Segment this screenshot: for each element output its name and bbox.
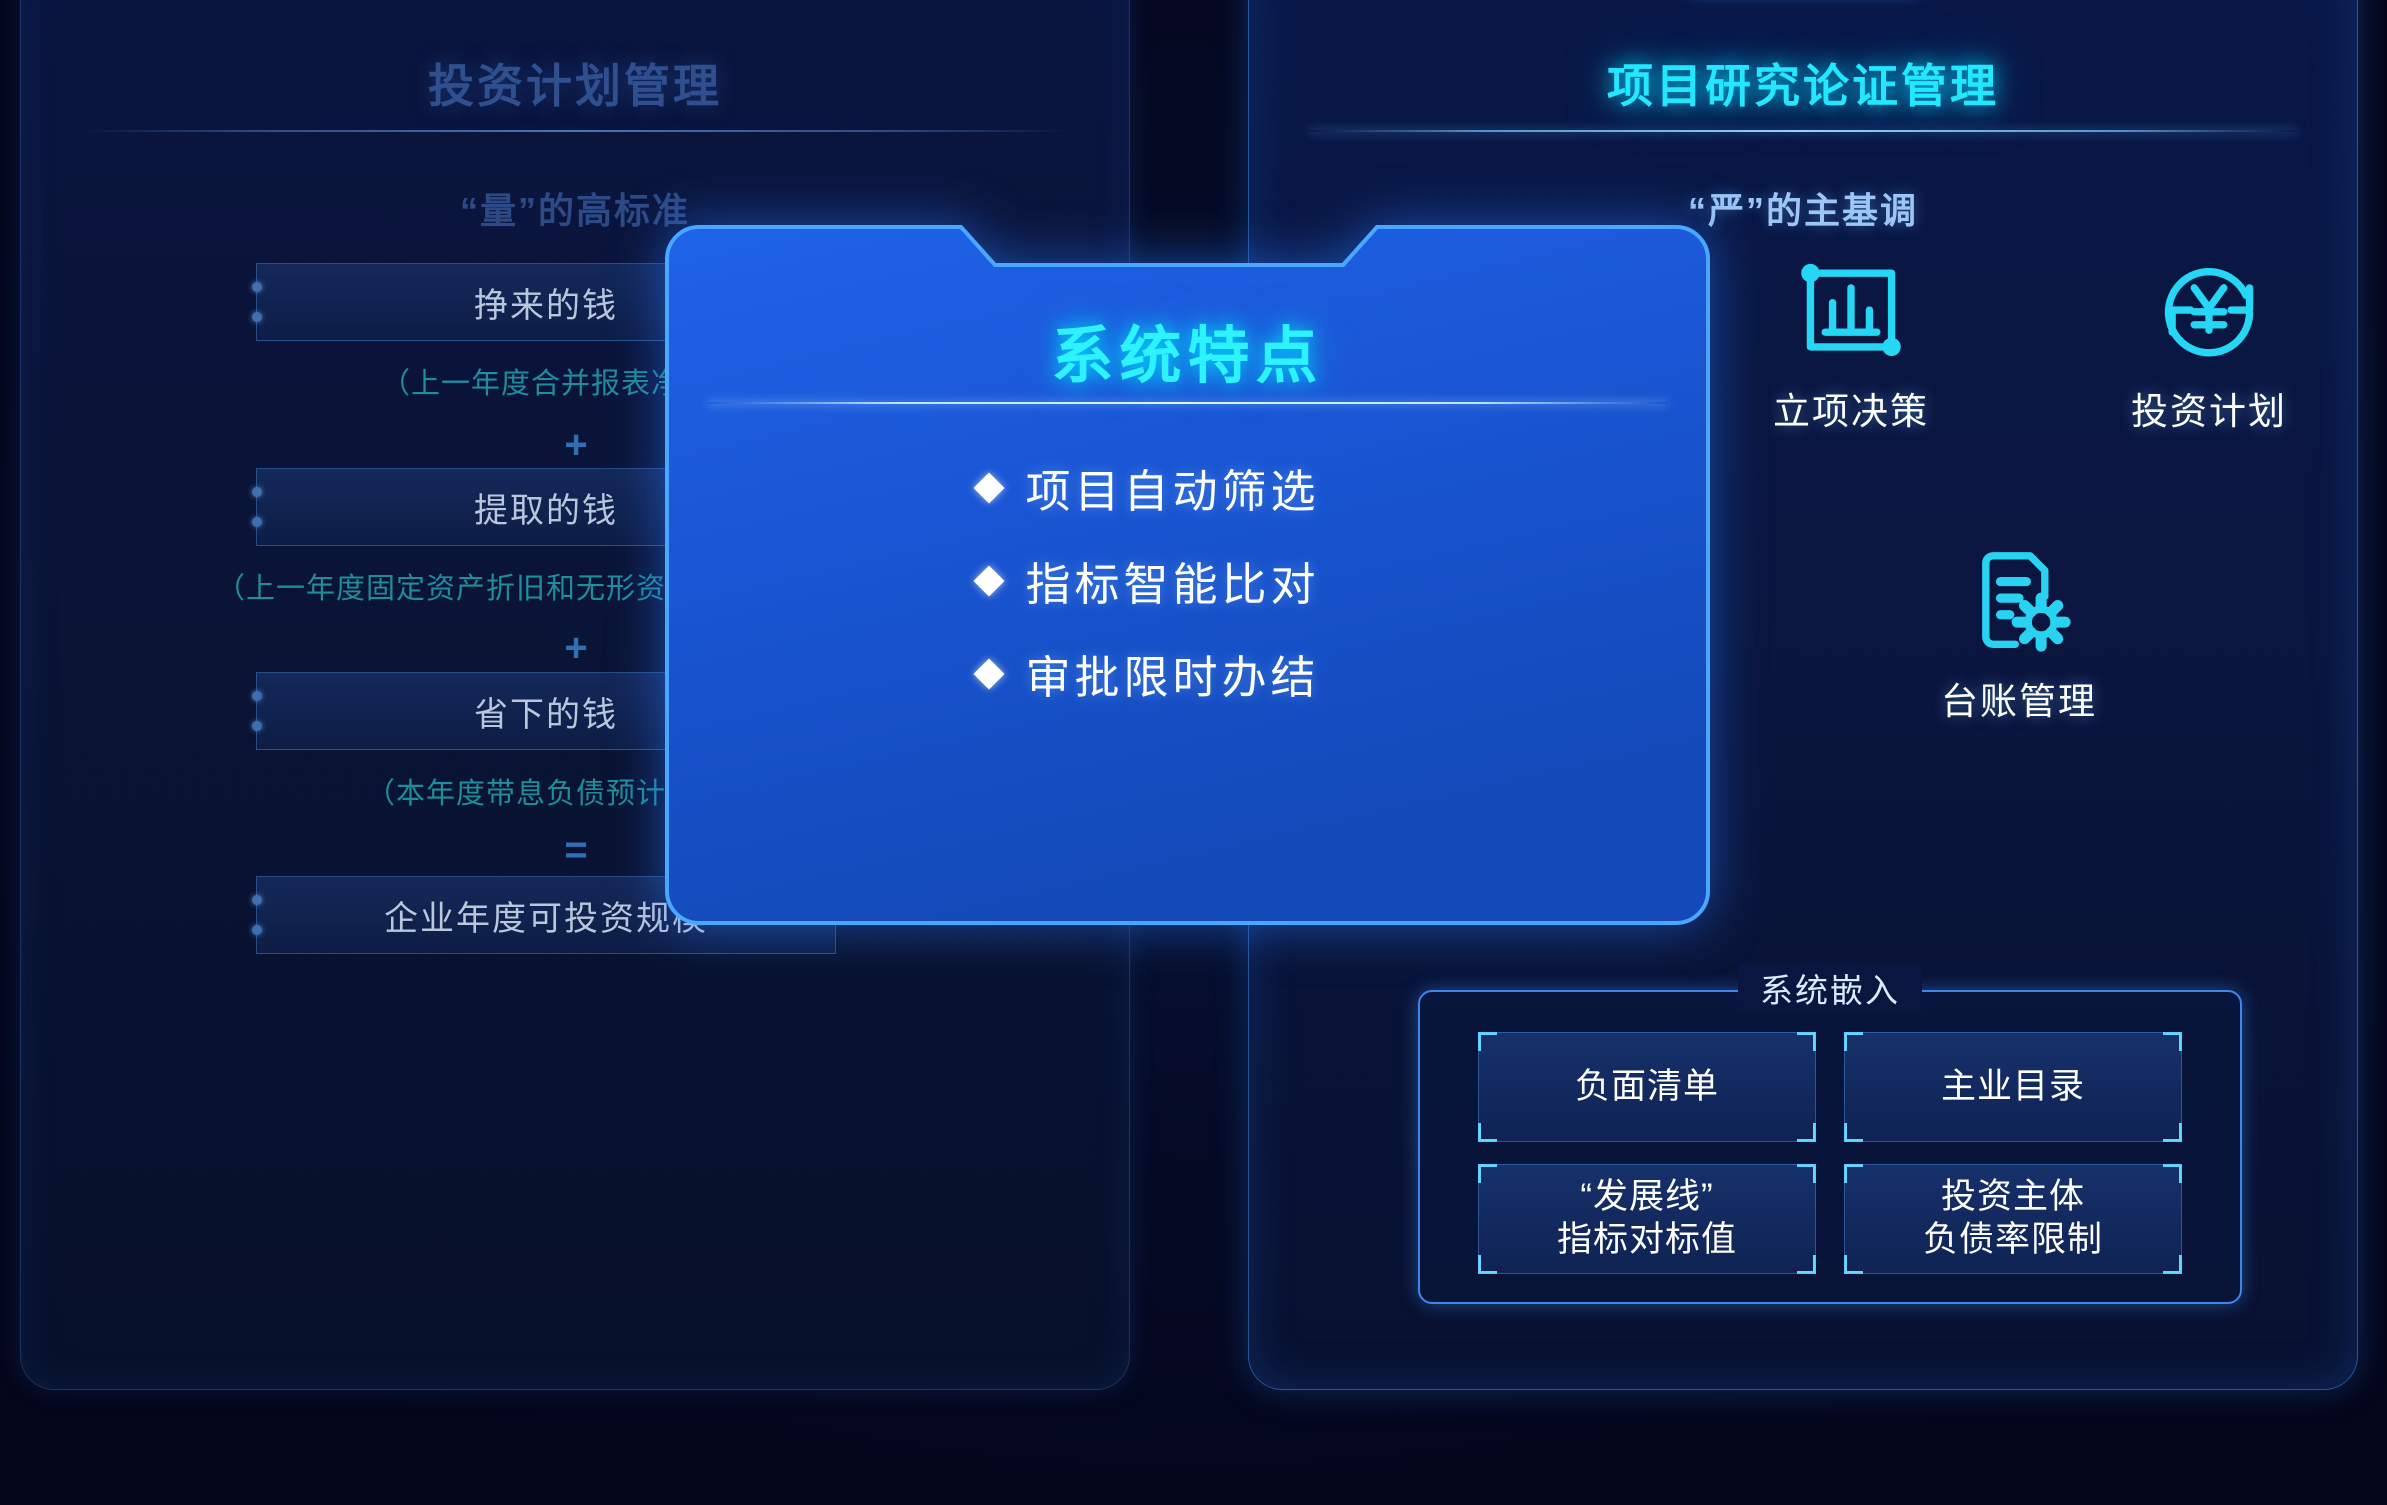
list-item-label: 指标智能比对 (1026, 548, 1320, 613)
diamond-bullet-icon (973, 472, 1004, 503)
corner-bracket-icon (1478, 1164, 1497, 1183)
list-item[interactable]: 审批限时办结 (978, 641, 1398, 706)
corner-bracket-icon (1797, 1123, 1816, 1142)
corner-bracket-icon (1844, 1032, 1863, 1051)
system-embed-grid: 负面清单 主业目录 “发展线” 指标对标值 投资主体 负债率限制 (1478, 1032, 2182, 1274)
flow-box-label: 挣来的钱 (474, 278, 618, 327)
bar-chart-icon (1701, 245, 2001, 375)
icon-tile-label: 立项决策 (1701, 381, 2001, 435)
folder-feature-list: 项目自动筛选 指标智能比对 审批限时办结 (665, 455, 1710, 706)
corner-bracket-icon (1797, 1164, 1816, 1183)
corner-bracket-icon (1478, 1123, 1497, 1142)
list-item[interactable]: 指标智能比对 (978, 548, 1398, 613)
embed-cell-line: 主业目录 (1941, 1066, 2085, 1109)
icon-tile-investment-plan[interactable]: 投资计划 (2059, 245, 2359, 435)
diamond-bullet-icon (973, 658, 1004, 689)
list-item-label: 项目自动筛选 (1026, 455, 1320, 520)
corner-bracket-icon (1478, 1255, 1497, 1274)
right-panel-title: 项目研究论证管理 (1249, 50, 2357, 116)
embed-cell-line: 负面清单 (1575, 1066, 1719, 1109)
corner-bracket-icon (1797, 1255, 1816, 1274)
diamond-bullet-icon (973, 565, 1004, 596)
icon-tile-project-decision[interactable]: 立项决策 (1701, 245, 2001, 435)
corner-bracket-icon (2163, 1123, 2182, 1142)
flow-box-label: 省下的钱 (474, 687, 618, 736)
flow-box-label: 企业年度可投资规模 (384, 891, 708, 940)
system-embed-fieldset: 系统嵌入 负面清单 主业目录 “发展线” 指标对标值 投资主体 负债率限制 (1418, 990, 2242, 1304)
embed-cell-line: 负债率限制 (1923, 1219, 2103, 1262)
left-panel-title: 投资计划管理 (21, 50, 1129, 116)
yuan-refresh-icon (2059, 245, 2359, 375)
system-features-folder-card[interactable]: 系统特点 项目自动筛选 指标智能比对 审批限时办结 (665, 225, 1710, 925)
corner-bracket-icon (2163, 1255, 2182, 1274)
embed-cell-main-business-catalog[interactable]: 主业目录 (1844, 1032, 2182, 1142)
embed-cell-line: 指标对标值 (1557, 1219, 1737, 1262)
embed-cell-line: 投资主体 (1923, 1176, 2103, 1219)
flow-box-label: 提取的钱 (474, 483, 618, 532)
corner-bracket-icon (1844, 1255, 1863, 1274)
right-title-divider (1309, 130, 2297, 132)
folder-title: 系统特点 (665, 305, 1710, 395)
left-title-divider (81, 130, 1069, 132)
embed-cell-line: “发展线” (1557, 1176, 1737, 1219)
corner-bracket-icon (1797, 1032, 1816, 1051)
icon-tile-ledger-management[interactable]: 台账管理 (1869, 535, 2169, 725)
corner-bracket-icon (1478, 1032, 1497, 1051)
embed-cell-development-line-benchmark[interactable]: “发展线” 指标对标值 (1478, 1164, 1816, 1274)
list-item[interactable]: 项目自动筛选 (978, 455, 1398, 520)
corner-bracket-icon (1844, 1123, 1863, 1142)
document-gear-icon (1869, 535, 2169, 665)
corner-bracket-icon (2163, 1032, 2182, 1051)
embed-cell-negative-list[interactable]: 负面清单 (1478, 1032, 1816, 1142)
corner-bracket-icon (1844, 1164, 1863, 1183)
system-embed-legend: 系统嵌入 (1738, 964, 1922, 1012)
corner-bracket-icon (2163, 1164, 2182, 1183)
icon-tile-label: 投资计划 (2059, 381, 2359, 435)
icon-tile-label: 台账管理 (1869, 671, 2169, 725)
list-item-label: 审批限时办结 (1026, 641, 1320, 706)
folder-title-divider (707, 402, 1668, 404)
embed-cell-investor-debt-limit[interactable]: 投资主体 负债率限制 (1844, 1164, 2182, 1274)
